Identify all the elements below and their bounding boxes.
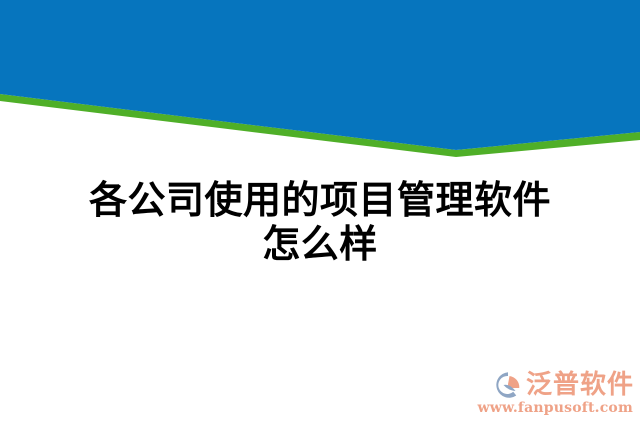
banner-green-edge — [0, 94, 640, 157]
watermark-url: www.fanpusoft.com — [477, 401, 633, 415]
slide-canvas: 各公司使用的项目管理软件 怎么样 泛普软件 www.fanpusoft.com — [0, 0, 640, 427]
fanpu-watermark: 泛普软件 www.fanpusoft.com — [477, 370, 634, 415]
fanpu-logo-icon — [493, 370, 523, 400]
watermark-brand-row: 泛普软件 — [493, 370, 634, 400]
header-banner — [0, 0, 640, 165]
banner-blue-shape — [0, 0, 640, 150]
watermark-brand-name: 泛普软件 — [526, 372, 634, 398]
page-title: 各公司使用的项目管理软件 怎么样 — [0, 178, 640, 266]
page-title-line-1: 各公司使用的项目管理软件 — [0, 178, 640, 222]
page-title-line-2: 怎么样 — [0, 222, 640, 266]
